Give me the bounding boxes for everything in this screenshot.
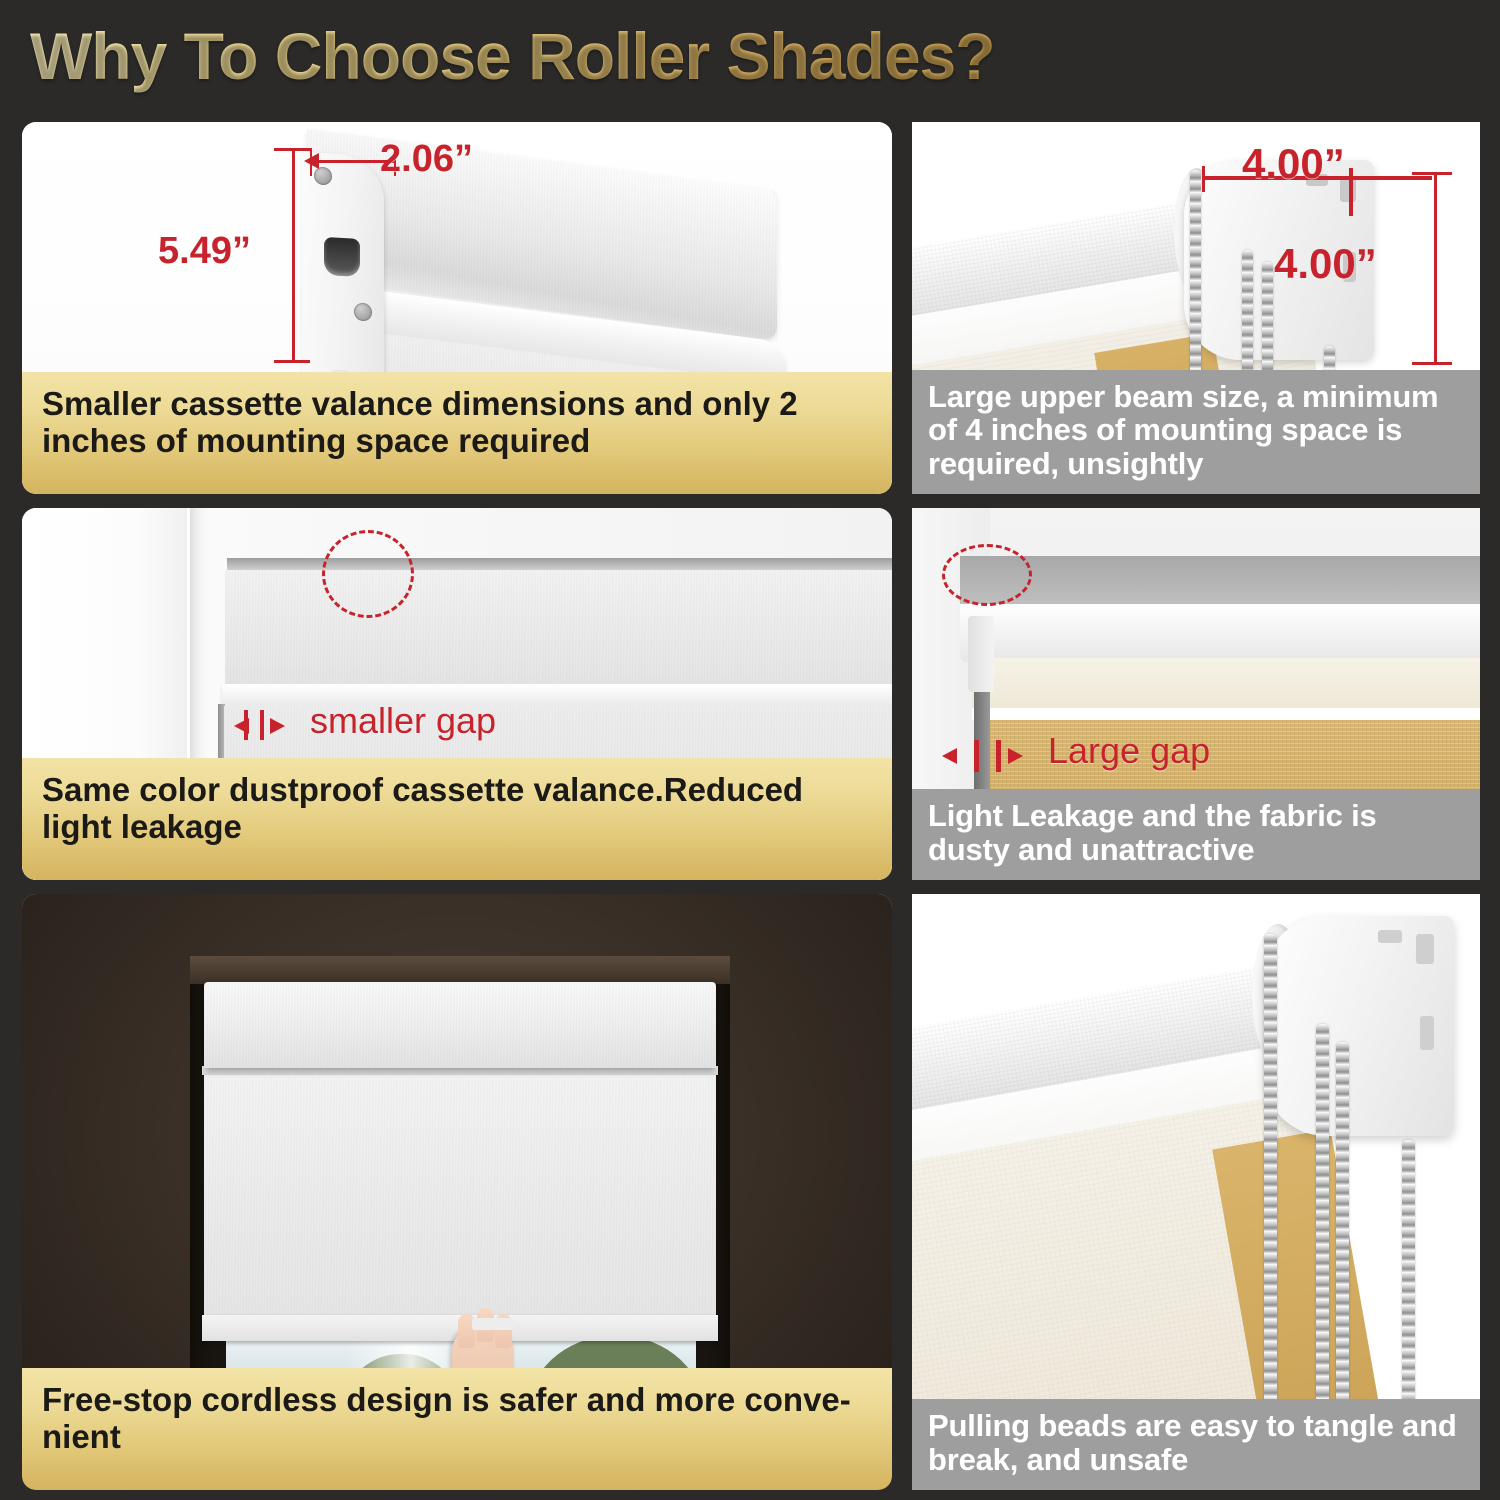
height-dimension-line bbox=[292, 148, 295, 363]
page-title: Why To Choose Roller Shades? bbox=[30, 18, 995, 94]
endcap-screw-mid-icon bbox=[354, 303, 372, 322]
beads-bracket-notch-3 bbox=[1378, 930, 1402, 943]
beam-height-tick-top bbox=[1412, 172, 1452, 175]
height-tick-top bbox=[274, 148, 310, 151]
beads-mounting-bracket bbox=[1264, 916, 1454, 1136]
width-arrow-left-icon bbox=[304, 153, 319, 169]
beam-height-tick-bottom bbox=[1412, 362, 1452, 365]
panel-pro-dustproof-valance: smaller gap Same color dustproof cassett… bbox=[22, 508, 892, 880]
room-shade-cassette bbox=[204, 982, 716, 1068]
window-reveal-top bbox=[190, 956, 730, 984]
gap-arrow-right-icon bbox=[270, 718, 285, 734]
panel-pro-cassette-dimensions: 2.06” 5.49” Smaller cassette valance dim… bbox=[22, 122, 892, 494]
panel-caption-pro-dustproof-valance: Same color dustproof cassette valance.Re… bbox=[22, 758, 892, 880]
panel-con-light-leakage: Large gap Light Leakage and the fabric i… bbox=[912, 508, 1480, 880]
panel-pro-cordless-design: Free-stop cordless design is safer and m… bbox=[22, 894, 892, 1490]
leak-side-bracket bbox=[968, 616, 994, 692]
room-shade-fabric bbox=[204, 1075, 716, 1327]
height-dimension-label: 5.49” bbox=[158, 230, 251, 273]
detail-highlight-circle bbox=[322, 530, 414, 618]
leak-gap-tick-left bbox=[974, 740, 979, 772]
leak-gap-arrow-left-icon bbox=[942, 748, 957, 764]
large-gap-label: Large gap bbox=[1048, 730, 1210, 772]
shade-pull-tab bbox=[472, 1318, 514, 1330]
gap-tick-right bbox=[260, 710, 264, 740]
height-tick-bottom bbox=[274, 360, 310, 363]
smaller-gap-label: smaller gap bbox=[310, 700, 496, 742]
beads-bracket-notch-2 bbox=[1420, 1016, 1434, 1050]
comparison-grid: 2.06” 5.49” Smaller cassette valance dim… bbox=[0, 112, 1500, 1500]
leak-gap-tick-right bbox=[996, 740, 1001, 772]
panel-con-pulling-beads: Pulling beads are easy to tangle and bre… bbox=[912, 894, 1480, 1490]
leak-white-line bbox=[972, 708, 1480, 720]
page-header: Why To Choose Roller Shades? bbox=[0, 0, 1500, 112]
beam-height-dimension-label: 4.00” bbox=[1274, 240, 1377, 288]
leak-gap-arrow-right-icon bbox=[1008, 748, 1023, 764]
leak-cream-band bbox=[972, 658, 1480, 710]
beam-width-tick-right bbox=[1349, 168, 1353, 216]
panel-con-large-beam: 4.00” 4.00” Large upper beam size, a min… bbox=[912, 122, 1480, 494]
beam-width-dimension-label: 4.00” bbox=[1242, 140, 1345, 188]
leak-detail-highlight-circle bbox=[942, 544, 1032, 606]
width-dimension-label: 2.06” bbox=[380, 138, 473, 181]
beads-bracket-notch-1 bbox=[1416, 934, 1434, 964]
beam-height-dimension-line bbox=[1434, 172, 1437, 364]
endcap-screw-top-icon bbox=[314, 166, 332, 185]
endcap-slot bbox=[324, 237, 360, 277]
panel-caption-con-large-beam: Large upper beam size, a minimum of 4 in… bbox=[912, 370, 1480, 494]
leak-roller-tube bbox=[960, 604, 1480, 662]
panel-caption-pro-cassette-dimensions: Smaller cassette valance dimensions and … bbox=[22, 372, 892, 494]
panel-caption-con-light-leakage: Light Leakage and the fabric is dusty an… bbox=[912, 789, 1480, 880]
panel-caption-pro-cordless-design: Free-stop cordless design is safer and m… bbox=[22, 1368, 892, 1490]
gap-arrow-left-icon bbox=[234, 718, 249, 734]
panel-caption-con-pulling-beads: Pulling beads are easy to tangle and bre… bbox=[912, 1399, 1480, 1490]
